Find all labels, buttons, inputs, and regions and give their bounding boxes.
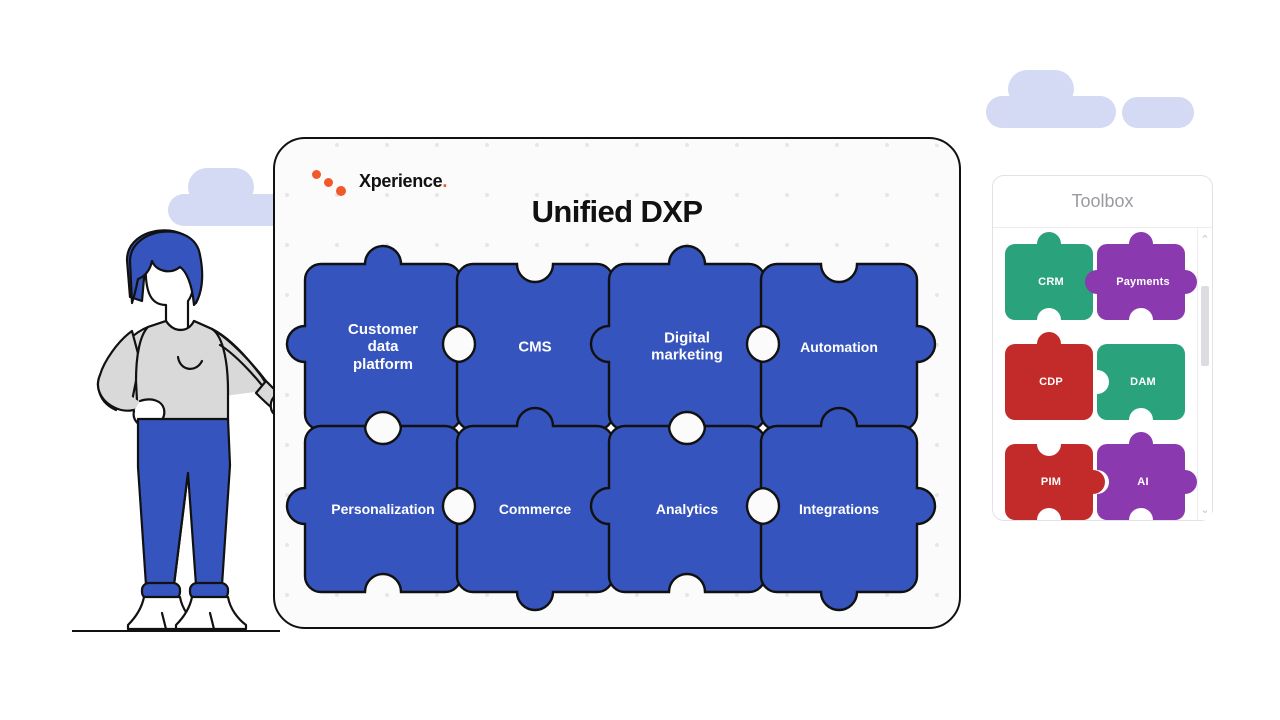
cloud-top-right-small xyxy=(1122,97,1194,128)
cloud-lobe xyxy=(986,96,1116,128)
toolbox-item-payments[interactable]: Payments xyxy=(1097,232,1189,332)
puzzle-piece-digital-marketing[interactable]: Digitalmarketing xyxy=(609,264,765,430)
logo-period: . xyxy=(442,171,447,191)
puzzle-piece-automation[interactable]: Automation xyxy=(761,264,917,430)
toolbox-item-ai[interactable]: AI xyxy=(1097,432,1189,532)
three-orange-dots-icon xyxy=(312,168,350,194)
puzzle-piece-integrations[interactable]: Integrations xyxy=(761,426,917,592)
puzzle-piece-commerce[interactable]: Commerce xyxy=(457,426,613,592)
puzzle-piece-cms[interactable]: CMS xyxy=(457,264,613,430)
toolbox-scrollbar[interactable]: ⌃ ⌄ xyxy=(1197,228,1212,520)
cloud-top-right xyxy=(986,70,1116,128)
puzzle-grid: Customerdataplatform CMS Digitalmarketin… xyxy=(305,264,933,594)
logo-wordmark: Xperience. xyxy=(359,171,447,192)
scroll-up-icon[interactable]: ⌃ xyxy=(1198,230,1212,248)
toolbox-body: CRM Payments CDP xyxy=(993,228,1212,520)
unified-dxp-board: Xperience. Unified DXP Customerdataplatf… xyxy=(273,137,961,629)
scrollbar-track[interactable] xyxy=(1201,250,1209,498)
puzzle-piece-personalization[interactable]: Personalization xyxy=(305,426,461,592)
toolbox-item-dam[interactable]: DAM xyxy=(1097,332,1189,432)
puzzle-piece-customer-data-platform[interactable]: Customerdataplatform xyxy=(305,264,461,430)
toolbox-title: Toolbox xyxy=(993,176,1212,228)
page-title: Unified DXP xyxy=(275,194,959,230)
slide-canvas: Xperience. Unified DXP Customerdataplatf… xyxy=(0,0,1280,720)
ground-line xyxy=(72,630,280,632)
scroll-down-icon[interactable]: ⌄ xyxy=(1198,500,1212,518)
cloud-lobe xyxy=(1122,97,1194,128)
toolbox-item-crm[interactable]: CRM xyxy=(1005,232,1097,332)
toolbox-panel: Toolbox CRM Payments xyxy=(992,175,1213,521)
scrollbar-thumb[interactable] xyxy=(1201,286,1209,366)
puzzle-piece-analytics[interactable]: Analytics xyxy=(609,426,765,592)
toolbox-item-cdp[interactable]: CDP xyxy=(1005,332,1097,432)
toolbox-item-pim[interactable]: PIM xyxy=(1005,432,1097,532)
toolbox-items-grid: CRM Payments CDP xyxy=(993,228,1197,520)
xperience-logo: Xperience. xyxy=(312,168,447,194)
